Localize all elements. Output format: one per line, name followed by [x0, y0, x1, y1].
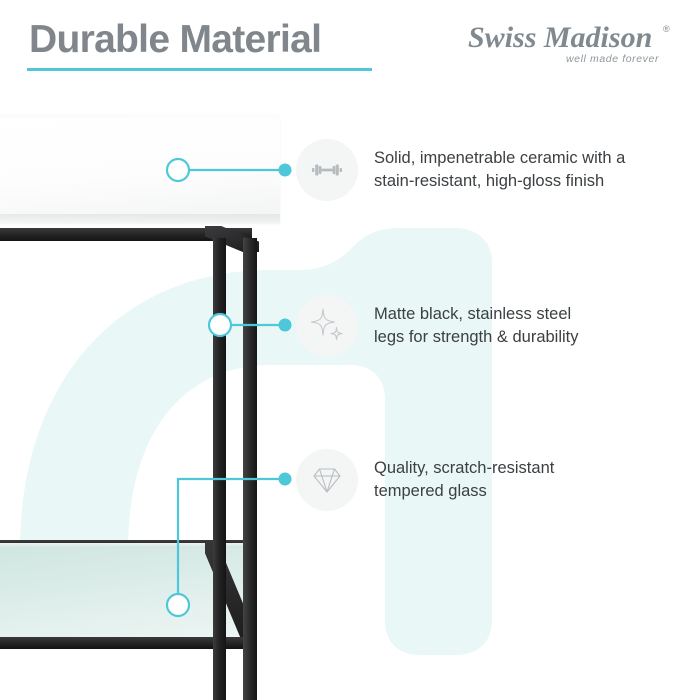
brand-logo: Swiss Madison ® well made forever	[466, 16, 682, 70]
sparkle-icon	[296, 295, 358, 357]
product-photo	[0, 88, 330, 700]
frame-front-leg	[213, 238, 226, 700]
dumbbell-icon	[296, 139, 358, 201]
callout-text: Solid, impenetrable ceramic with a stain…	[374, 147, 625, 193]
page-title: Durable Material	[29, 18, 321, 62]
callout-item: Quality, scratch-resistant tempered glas…	[296, 449, 554, 511]
header: Durable Material Swiss Madison ® well ma…	[0, 0, 700, 100]
diamond-icon	[296, 449, 358, 511]
callout-text: Matte black, stainless steel legs for st…	[374, 303, 579, 349]
basin-shadow	[0, 214, 280, 224]
title-underline	[27, 68, 372, 71]
callout-text: Quality, scratch-resistant tempered glas…	[374, 457, 554, 503]
ceramic-basin	[0, 118, 280, 223]
brand-tagline-text: well made forever	[566, 53, 659, 65]
brand-name-text: Swiss Madison	[468, 21, 652, 54]
registered-mark: ®	[663, 24, 670, 34]
callout-item: Solid, impenetrable ceramic with a stain…	[296, 139, 625, 201]
callout-item: Matte black, stainless steel legs for st…	[296, 295, 579, 357]
infographic-page: Durable Material Swiss Madison ® well ma…	[0, 0, 700, 700]
frame-back-leg	[243, 238, 257, 700]
